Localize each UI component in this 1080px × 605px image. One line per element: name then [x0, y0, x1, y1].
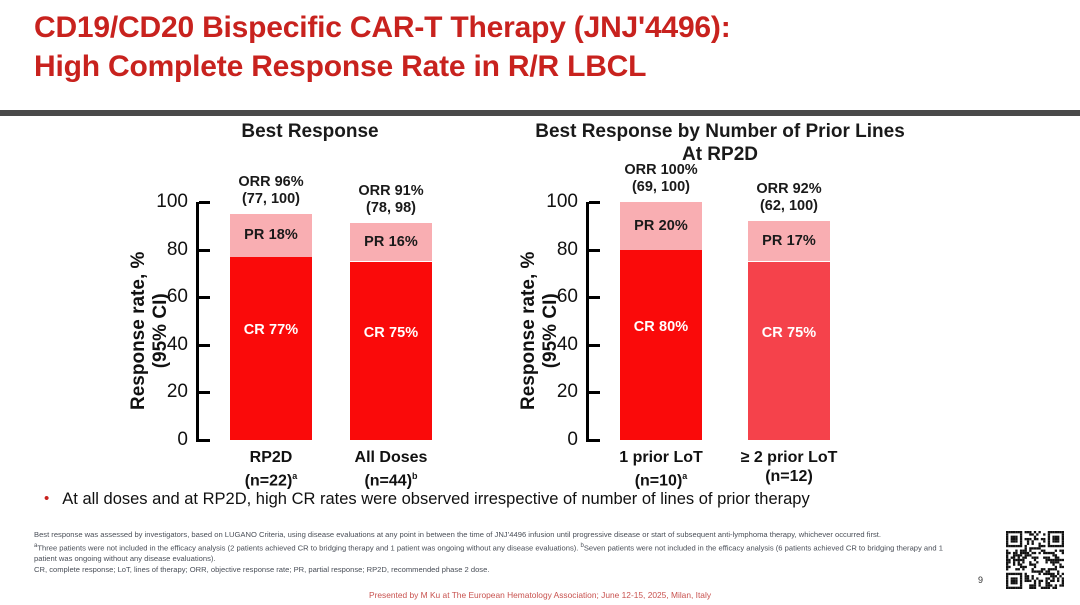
plot-area: Response rate, %(95% CI)020406080100PR 1…	[110, 118, 510, 488]
title-line-2: High Complete Response Rate in R/R LBCL	[34, 47, 1044, 86]
y-axis-tick	[589, 391, 600, 394]
y-axis-tick-label: 20	[536, 382, 578, 401]
y-axis-tick-label: 80	[146, 240, 188, 259]
bar-segment-cr[interactable]: CR 80%	[620, 250, 702, 440]
bar-segment-pr[interactable]: PR 16%	[350, 223, 432, 261]
x-axis-category-label: ≥ 2 prior LoT(n=12)	[704, 448, 874, 486]
footnote-method: Best response was assessed by investigat…	[34, 530, 964, 541]
y-axis-tick-label: 60	[536, 287, 578, 306]
y-axis-tick	[199, 249, 210, 252]
bar-segment-cr-label: CR 75%	[364, 325, 419, 341]
x-axis-category-footnote-mark: a	[292, 471, 297, 481]
y-axis-tick-label: 100	[536, 192, 578, 211]
page-number: 9	[978, 575, 983, 585]
bar-segment-pr[interactable]: PR 20%	[620, 202, 702, 250]
y-axis-line	[586, 202, 589, 442]
bullet-text: At all doses and at RP2D, high CR rates …	[62, 489, 809, 509]
presenter-credit: Presented by M Ku at The European Hemato…	[0, 590, 1080, 601]
y-axis-tick-label: 40	[536, 335, 578, 354]
y-axis-tick	[199, 391, 210, 394]
footnote-ab: aThree patients were not included in the…	[34, 541, 964, 565]
bar-segment-cr[interactable]: CR 75%	[350, 262, 432, 441]
key-takeaway-bullet: • At all doses and at RP2D, high CR rate…	[44, 489, 1034, 509]
y-axis-tick	[589, 296, 600, 299]
y-axis-tick-label: 100	[146, 192, 188, 211]
x-axis-category-label: All Doses(n=44)b	[306, 448, 476, 490]
x-axis-category-footnote-mark: b	[412, 471, 418, 481]
page-title: CD19/CD20 Bispecific CAR-T Therapy (JNJ'…	[34, 8, 1044, 86]
orr-annotation-line2: (78, 98)	[306, 200, 476, 217]
footnote-a-text: Three patients were not included in the …	[37, 544, 580, 553]
bar-segment-pr[interactable]: PR 18%	[230, 214, 312, 257]
chart-best-response-by-prior-lines: Best Response by Number of Prior Lines A…	[500, 118, 940, 488]
bar-segment-pr-label: PR 17%	[762, 233, 816, 249]
bar-segment-cr[interactable]: CR 77%	[230, 257, 312, 440]
title-line-1: CD19/CD20 Bispecific CAR-T Therapy (JNJ'…	[34, 8, 1044, 47]
charts-container: Best Response Response rate, %(95% CI)02…	[0, 118, 1080, 488]
y-axis-tick-label: 20	[146, 382, 188, 401]
y-axis-tick	[589, 249, 600, 252]
bar-segment-cr-label: CR 77%	[244, 322, 299, 338]
x-axis-category-n: (n=12)	[704, 467, 874, 486]
x-axis-category-n: (n=44)b	[306, 467, 476, 490]
y-axis-bottom-cap	[199, 439, 210, 442]
plot-area: Response rate, %(95% CI)020406080100PR 2…	[500, 118, 940, 488]
y-axis-tick	[199, 296, 210, 299]
bar-segment-pr-label: PR 18%	[244, 227, 298, 243]
chart-best-response: Best Response Response rate, %(95% CI)02…	[110, 118, 510, 488]
bar-segment-cr-label: CR 75%	[762, 325, 817, 341]
y-axis-tick-label: 0	[536, 430, 578, 449]
orr-annotation: ORR 91%(78, 98)	[306, 183, 476, 217]
orr-annotation-line1: ORR 100%	[576, 162, 746, 179]
y-axis-tick-label: 0	[146, 430, 188, 449]
y-axis-tick	[589, 344, 600, 347]
y-axis-tick	[199, 344, 210, 347]
orr-annotation: ORR 92%(62, 100)	[704, 181, 874, 215]
y-axis-tick-label: 60	[146, 287, 188, 306]
bar-segment-cr[interactable]: CR 75%	[748, 262, 830, 441]
bar-segment-pr[interactable]: PR 17%	[748, 221, 830, 261]
y-axis-top-cap	[589, 201, 600, 204]
x-axis-category-name: All Doses	[306, 448, 476, 467]
bar-segment-cr-label: CR 80%	[634, 319, 689, 335]
y-axis-top-cap	[199, 201, 210, 204]
y-axis-line	[196, 202, 199, 442]
orr-annotation-line1: ORR 91%	[306, 183, 476, 200]
y-axis-tick-label: 40	[146, 335, 188, 354]
y-axis-bottom-cap	[589, 439, 600, 442]
qr-code-icon[interactable]	[1006, 531, 1064, 589]
bullet-marker-icon: •	[44, 489, 49, 509]
orr-annotation-line1: ORR 92%	[704, 181, 874, 198]
bar-segment-pr-label: PR 20%	[634, 218, 688, 234]
x-axis-category-name: ≥ 2 prior LoT	[704, 448, 874, 467]
x-axis-category-footnote-mark: a	[682, 471, 687, 481]
bar-group: PR 18%CR 77%	[230, 118, 312, 440]
bar-segment-pr-label: PR 16%	[364, 234, 418, 250]
bar-group: PR 17%CR 75%	[748, 118, 830, 440]
bar-group: PR 16%CR 75%	[350, 118, 432, 440]
footnote-abbreviations: CR, complete response; LoT, lines of the…	[34, 565, 964, 576]
orr-annotation-line2: (62, 100)	[704, 198, 874, 215]
title-divider	[0, 110, 1080, 116]
y-axis-tick-label: 80	[536, 240, 578, 259]
footnotes: Best response was assessed by investigat…	[34, 530, 964, 576]
